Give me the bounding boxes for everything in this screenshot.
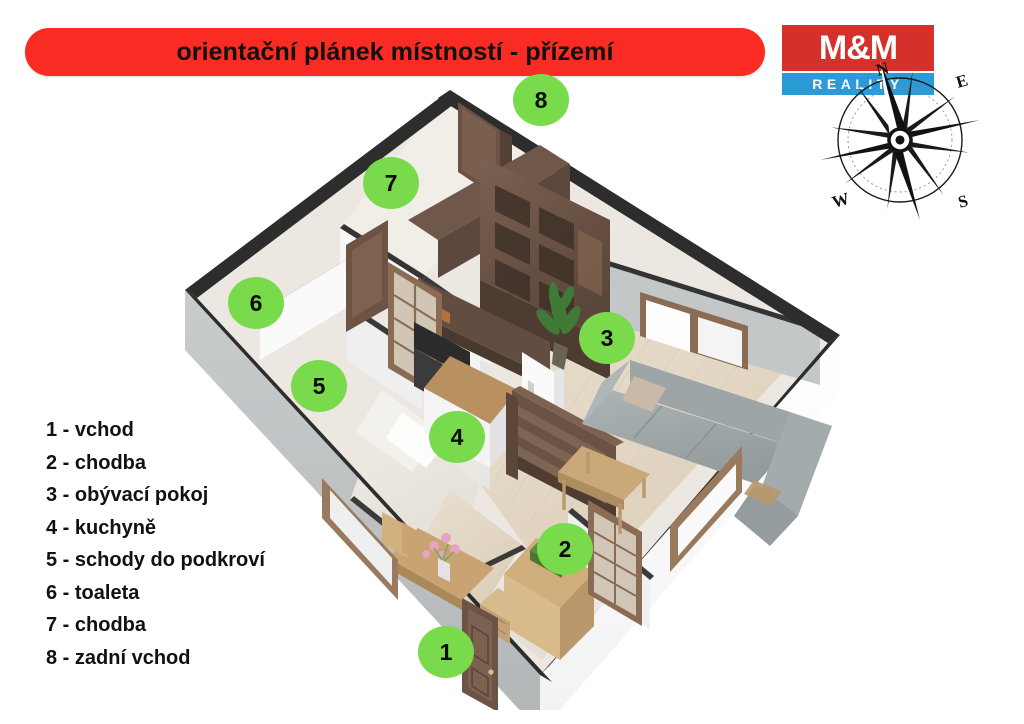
room-marker-5-label: 5: [313, 373, 326, 400]
room-marker-5[interactable]: 5: [291, 360, 347, 412]
room-marker-4-label: 4: [451, 424, 464, 451]
room-marker-8[interactable]: 8: [513, 74, 569, 126]
floorplan-page: orientační plánek místností - přízemí M&…: [0, 0, 1024, 724]
compass-label-south: S: [956, 191, 970, 212]
room-marker-7-label: 7: [385, 170, 398, 197]
room-marker-2[interactable]: 2: [537, 523, 593, 575]
compass-label-north: N: [874, 58, 892, 80]
room-marker-4[interactable]: 4: [429, 411, 485, 463]
compass-label-east: E: [954, 70, 970, 91]
floorplan-3d-render: [150, 60, 870, 710]
room-marker-3-label: 3: [601, 325, 614, 352]
room-marker-3[interactable]: 3: [579, 312, 635, 364]
room-marker-6[interactable]: 6: [228, 277, 284, 329]
room-marker-7[interactable]: 7: [363, 157, 419, 209]
room-marker-2-label: 2: [559, 536, 572, 563]
room-marker-1[interactable]: 1: [418, 626, 474, 678]
room-marker-1-label: 1: [440, 639, 453, 666]
room-marker-8-label: 8: [535, 87, 548, 114]
room-marker-6-label: 6: [250, 290, 263, 317]
